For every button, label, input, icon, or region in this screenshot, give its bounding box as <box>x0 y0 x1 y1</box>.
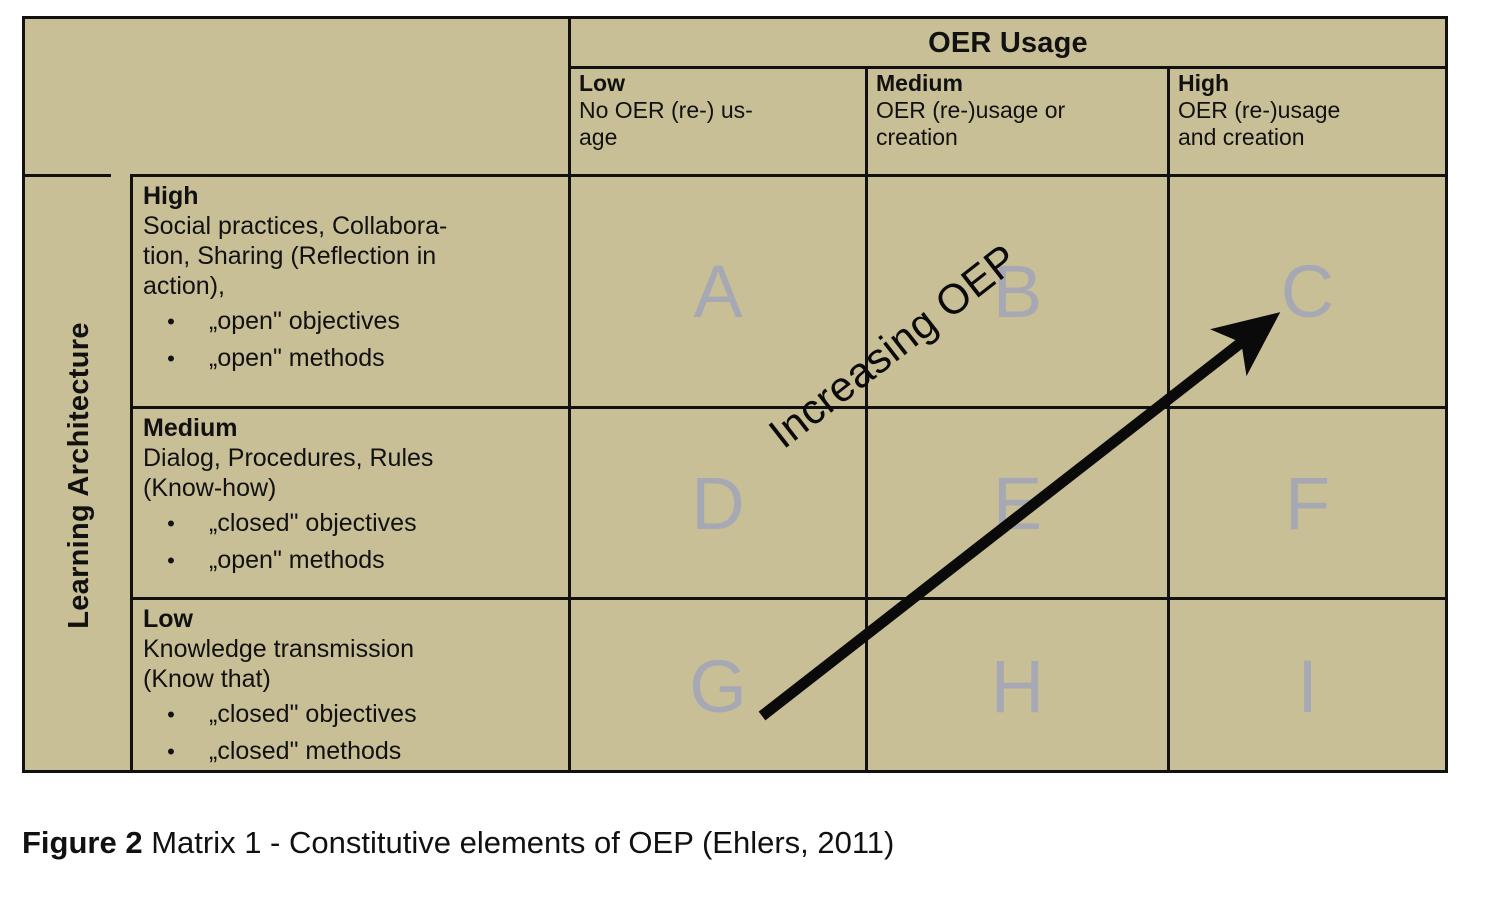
list-item: • „open" methods <box>209 542 563 579</box>
row-header-high-desc-line2: tion, Sharing (Reflection in <box>143 242 436 270</box>
matrix-cell-e: E <box>868 409 1167 597</box>
column-header-medium: Medium OER (re-)usage or creation <box>868 69 1170 173</box>
column-header-high-desc-line2: and creation <box>1178 124 1439 151</box>
list-item-label: „open" objectives <box>209 307 400 335</box>
matrix-cell-d: D <box>571 409 865 597</box>
row-header-high-level: High <box>143 182 199 210</box>
oep-matrix-table: OER Usage Low No OER (re-) us- age Mediu… <box>22 16 1448 773</box>
figure-container: OER Usage Low No OER (re-) us- age Mediu… <box>0 0 1488 904</box>
row-header-medium: Medium Dialog, Procedures, Rules (Know-h… <box>133 409 571 597</box>
figure-caption-text: Matrix 1 - Constitutive elements of OEP … <box>143 825 895 860</box>
matrix-cell-i: I <box>1170 600 1445 773</box>
bullet-glyph: • <box>165 505 177 542</box>
row-header-high-desc-line1: Social practices, Collabora- <box>143 212 447 240</box>
row-header-medium-desc-line1: Dialog, Procedures, Rules <box>143 444 433 472</box>
row-header-medium-level: Medium <box>143 414 237 442</box>
column-header-medium-desc-line1: OER (re-)usage or <box>876 97 1164 124</box>
list-item-label: „open" methods <box>209 546 385 574</box>
list-item-label: „closed" objectives <box>209 509 417 537</box>
column-header-high: High OER (re-)usage and creation <box>1170 69 1445 173</box>
list-item: • „closed" methods <box>209 733 563 770</box>
matrix-cell-c: C <box>1170 177 1445 406</box>
list-item-label: „open" methods <box>209 344 385 372</box>
row-axis-title-cell: Learning Architecture <box>25 177 133 773</box>
bullet-glyph: • <box>165 542 177 579</box>
row-header-low-level: Low <box>143 605 193 633</box>
bullet-glyph: • <box>165 696 177 733</box>
row-header-high-bullet-list: • „open" objectives • „open" methods <box>143 303 563 377</box>
matrix-cell-g: G <box>571 600 865 773</box>
figure-caption-label: Figure 2 <box>22 825 143 860</box>
row-axis-title: Learning Architecture <box>63 322 96 629</box>
column-header-low-desc-line1: No OER (re-) us- <box>579 97 862 124</box>
column-header-low: Low No OER (re-) us- age <box>571 69 868 173</box>
row-header-low: Low Knowledge transmission (Know that) •… <box>133 600 571 773</box>
row-header-high: High Social practices, Collabora- tion, … <box>133 177 571 406</box>
figure-caption: Figure 2 Matrix 1 - Constitutive element… <box>22 825 894 861</box>
matrix-cell-h: H <box>868 600 1167 773</box>
bullet-glyph: • <box>165 340 177 377</box>
list-item: • „closed" objectives <box>209 505 563 542</box>
row-header-low-desc-line2: (Know that) <box>143 665 271 693</box>
list-item: • „closed" objectives <box>209 696 563 733</box>
column-header-low-level: Low <box>579 70 862 97</box>
list-item-label: „closed" objectives <box>209 700 417 728</box>
list-item: • „open" methods <box>209 340 563 377</box>
bullet-glyph: • <box>165 303 177 340</box>
row-header-medium-desc-line2: (Know-how) <box>143 474 276 502</box>
column-header-medium-level: Medium <box>876 70 1164 97</box>
matrix-cell-a: A <box>571 177 865 406</box>
bullet-glyph: • <box>165 733 177 770</box>
row-header-low-bullet-list: • „closed" objectives • „closed" methods <box>143 696 563 770</box>
column-header-low-desc-line2: age <box>579 124 862 151</box>
column-header-high-level: High <box>1178 70 1439 97</box>
list-item: • „open" objectives <box>209 303 563 340</box>
row-header-low-desc-line1: Knowledge transmission <box>143 635 414 663</box>
matrix-cell-b: B <box>868 177 1167 406</box>
column-header-high-desc-line1: OER (re-)usage <box>1178 97 1439 124</box>
list-item-label: „closed" methods <box>209 737 401 765</box>
row-header-high-desc-line3: action), <box>143 272 225 300</box>
row-header-medium-bullet-list: • „closed" objectives • „open" methods <box>143 505 563 579</box>
matrix-cell-f: F <box>1170 409 1445 597</box>
column-axis-title: OER Usage <box>571 21 1445 65</box>
column-header-medium-desc-line2: creation <box>876 124 1164 151</box>
